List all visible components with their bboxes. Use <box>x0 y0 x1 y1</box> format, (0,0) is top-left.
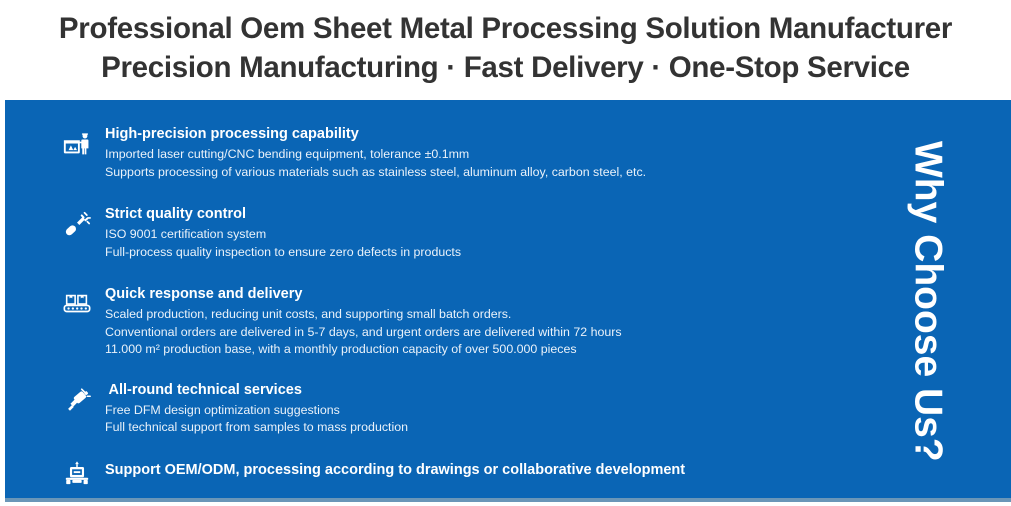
feature-detail-line: Full technical support from samples to m… <box>105 419 408 437</box>
feature-detail-line: Scaled production, reducing unit costs, … <box>105 306 622 324</box>
power-drill-icon <box>49 381 105 415</box>
feature-detail-line: Free DFM design optimization suggestions <box>105 402 408 420</box>
header-title-line-1: Professional Oem Sheet Metal Processing … <box>0 9 1011 48</box>
vertical-headline: Why Choose Us? <box>909 141 948 462</box>
feature-item: Support OEM/ODM, processing according to… <box>5 459 845 489</box>
feature-detail-line: 11.000 m² production base, with a monthl… <box>105 341 622 359</box>
feature-text: Support OEM/ODM, processing according to… <box>105 459 685 481</box>
feature-item: High-precision processing capability Imp… <box>5 125 845 181</box>
features-panel: High-precision processing capability Imp… <box>5 100 1011 502</box>
feature-detail-line: Full-process quality inspection to ensur… <box>105 244 461 262</box>
welding-torch-icon <box>49 205 105 239</box>
feature-title: Support OEM/ODM, processing according to… <box>105 459 685 481</box>
feature-detail-line: Imported laser cutting/CNC bending equip… <box>105 146 646 164</box>
feature-text: All-round technical services Free DFM de… <box>105 381 408 437</box>
feature-text: Quick response and delivery Scaled produ… <box>105 285 622 359</box>
features-list: High-precision processing capability Imp… <box>5 100 845 502</box>
feature-detail-line: Supports processing of various materials… <box>105 164 646 182</box>
cnc-machine-icon <box>49 459 105 489</box>
conveyor-boxes-icon <box>49 285 105 319</box>
feature-title: High-precision processing capability <box>105 125 646 144</box>
feature-item: Quick response and delivery Scaled produ… <box>5 285 845 359</box>
feature-title: Strict quality control <box>105 205 461 224</box>
feature-item: All-round technical services Free DFM de… <box>5 381 845 437</box>
banner-header: Professional Oem Sheet Metal Processing … <box>0 0 1011 100</box>
feature-detail-line: ISO 9001 certification system <box>105 226 461 244</box>
factory-worker-icon <box>49 125 105 159</box>
header-title-line-2: Precision Manufacturing · Fast Delivery … <box>0 48 1011 87</box>
feature-text: Strict quality control ISO 9001 certific… <box>105 205 461 261</box>
feature-title: Quick response and delivery <box>105 285 622 304</box>
feature-text: High-precision processing capability Imp… <box>105 125 646 181</box>
feature-title: All-round technical services <box>105 381 408 400</box>
vertical-headline-wrap: Why Choose Us? <box>845 100 1011 502</box>
feature-detail-line: Conventional orders are delivered in 5-7… <box>105 324 622 342</box>
promo-banner: Professional Oem Sheet Metal Processing … <box>0 0 1011 506</box>
feature-item: Strict quality control ISO 9001 certific… <box>5 205 845 261</box>
